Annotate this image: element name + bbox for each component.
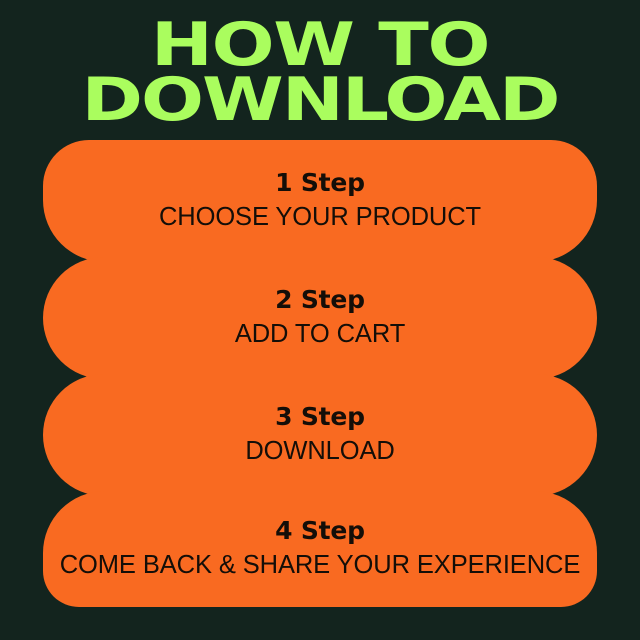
step-number-3: 3 Step (275, 403, 365, 432)
poster-canvas: HOW TO DOWNLOAD 1 Step CHOOSE YOUR PRODU… (0, 0, 640, 640)
step-label-3: DOWNLOAD (245, 436, 394, 467)
step-card-2[interactable]: 2 Step ADD TO CART (43, 257, 597, 379)
step-number-4: 4 Step (275, 517, 365, 546)
step-number-1: 1 Step (275, 169, 365, 198)
step-card-1[interactable]: 1 Step CHOOSE YOUR PRODUCT (43, 140, 597, 262)
step-card-4[interactable]: 4 Step COME BACK & SHARE YOUR EXPERIENCE (43, 491, 597, 607)
step-number-2: 2 Step (275, 286, 365, 315)
title-line-download: DOWNLOAD (0, 73, 640, 128)
step-label-2: ADD TO CART (235, 319, 405, 350)
step-card-3[interactable]: 3 Step DOWNLOAD (43, 374, 597, 496)
step-label-1: CHOOSE YOUR PRODUCT (159, 202, 481, 233)
step-label-4: COME BACK & SHARE YOUR EXPERIENCE (60, 550, 581, 581)
page-title: HOW TO DOWNLOAD (0, 18, 640, 126)
